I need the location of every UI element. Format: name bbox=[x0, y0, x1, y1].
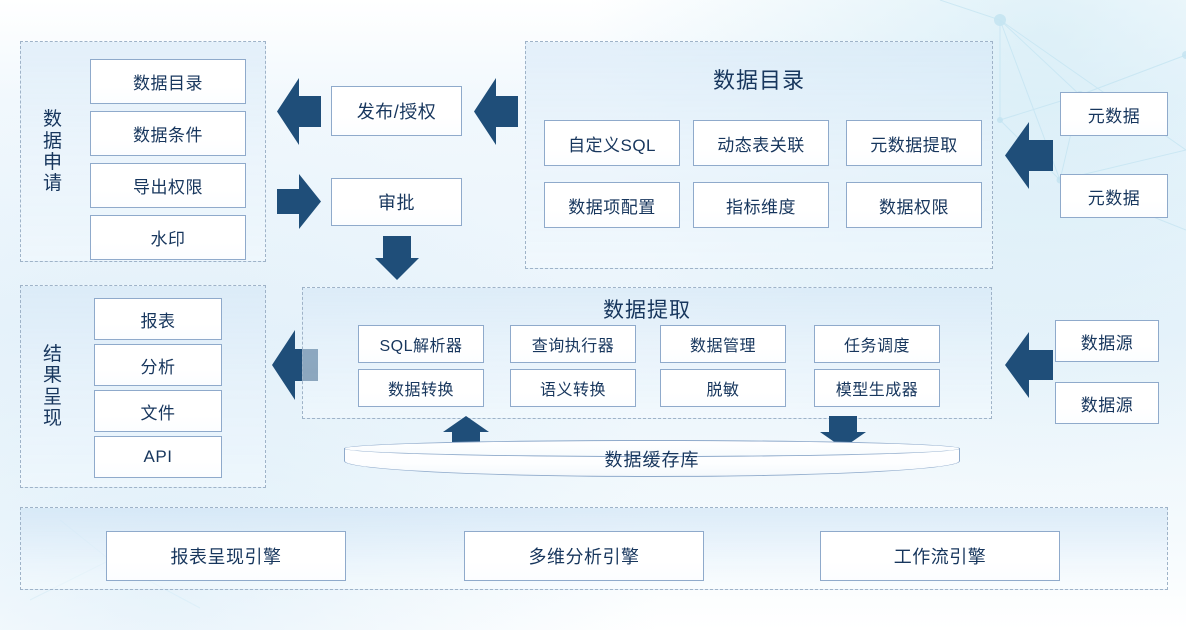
extract-item-data-management[interactable]: 数据管理 bbox=[660, 325, 786, 363]
apply-zone-label-char-1: 据 bbox=[43, 131, 63, 152]
apply-item-data-catalog[interactable]: 数据目录 bbox=[90, 59, 246, 104]
arrow-publish-to-apply-icon bbox=[277, 78, 321, 145]
result-zone-label-char-3: 现 bbox=[43, 408, 63, 429]
result-item-api[interactable]: API bbox=[94, 436, 222, 478]
catalog-item-custom-sql[interactable]: 自定义SQL bbox=[544, 120, 680, 166]
apply-zone-label-char-0: 数 bbox=[43, 109, 63, 130]
arrow-apply-to-approve-icon bbox=[277, 174, 321, 229]
result-zone-label-char-0: 结 bbox=[43, 344, 63, 365]
catalog-item-data-field-config[interactable]: 数据项配置 bbox=[544, 182, 680, 228]
metadata-source-2[interactable]: 元数据 bbox=[1060, 174, 1168, 218]
extract-item-semantic-transform[interactable]: 语义转换 bbox=[510, 369, 636, 407]
data-cache-store-label: 数据缓存库 bbox=[344, 440, 960, 477]
result-zone-label-char-2: 呈 bbox=[43, 387, 63, 408]
apply-zone-label: 数 据 申 请 bbox=[32, 58, 74, 246]
apply-item-data-condition[interactable]: 数据条件 bbox=[90, 111, 246, 156]
data-source-1[interactable]: 数据源 bbox=[1055, 320, 1159, 362]
catalog-panel-title: 数据目录 bbox=[525, 63, 993, 95]
result-item-analysis[interactable]: 分析 bbox=[94, 344, 222, 386]
approve-box[interactable]: 审批 bbox=[331, 178, 462, 226]
result-zone-label: 结 果 呈 现 bbox=[32, 300, 74, 473]
data-cache-store[interactable]: 数据缓存库 bbox=[344, 440, 960, 477]
extract-panel-title: 数据提取 bbox=[302, 294, 992, 324]
extract-item-data-transform[interactable]: 数据转换 bbox=[358, 369, 484, 407]
extract-item-model-generator[interactable]: 模型生成器 bbox=[814, 369, 940, 407]
engine-workflow[interactable]: 工作流引擎 bbox=[820, 531, 1060, 581]
catalog-item-metadata-extraction[interactable]: 元数据提取 bbox=[846, 120, 982, 166]
catalog-item-data-permission[interactable]: 数据权限 bbox=[846, 182, 982, 228]
extract-item-task-scheduling[interactable]: 任务调度 bbox=[814, 325, 940, 363]
apply-item-watermark[interactable]: 水印 bbox=[90, 215, 246, 260]
arrow-catalog-to-publish-icon bbox=[474, 78, 518, 145]
data-source-2[interactable]: 数据源 bbox=[1055, 382, 1159, 424]
arrow-metadata-to-catalog-icon bbox=[1005, 122, 1053, 189]
publish-authorize-box[interactable]: 发布/授权 bbox=[331, 86, 462, 136]
engine-multidimensional-analysis[interactable]: 多维分析引擎 bbox=[464, 531, 704, 581]
extract-item-sql-parser[interactable]: SQL解析器 bbox=[358, 325, 484, 363]
result-item-file[interactable]: 文件 bbox=[94, 390, 222, 432]
arrow-approve-to-extract-icon bbox=[375, 236, 419, 280]
architecture-diagram: 数 据 申 请 数据目录 数据条件 导出权限 水印 发布/授权 审批 数据目录 … bbox=[0, 0, 1186, 630]
metadata-source-1[interactable]: 元数据 bbox=[1060, 92, 1168, 136]
result-zone-label-char-1: 果 bbox=[43, 365, 63, 386]
engine-report-rendering[interactable]: 报表呈现引擎 bbox=[106, 531, 346, 581]
apply-zone-label-char-2: 申 bbox=[43, 152, 63, 173]
apply-zone-label-char-3: 请 bbox=[43, 173, 63, 194]
catalog-item-metric-dimension[interactable]: 指标维度 bbox=[693, 182, 829, 228]
result-item-report[interactable]: 报表 bbox=[94, 298, 222, 340]
catalog-item-dynamic-table-relation[interactable]: 动态表关联 bbox=[693, 120, 829, 166]
arrow-datasource-to-extract-icon bbox=[1005, 332, 1053, 398]
extract-item-query-executor[interactable]: 查询执行器 bbox=[510, 325, 636, 363]
extract-item-desensitization[interactable]: 脱敏 bbox=[660, 369, 786, 407]
apply-item-export-permission[interactable]: 导出权限 bbox=[90, 163, 246, 208]
